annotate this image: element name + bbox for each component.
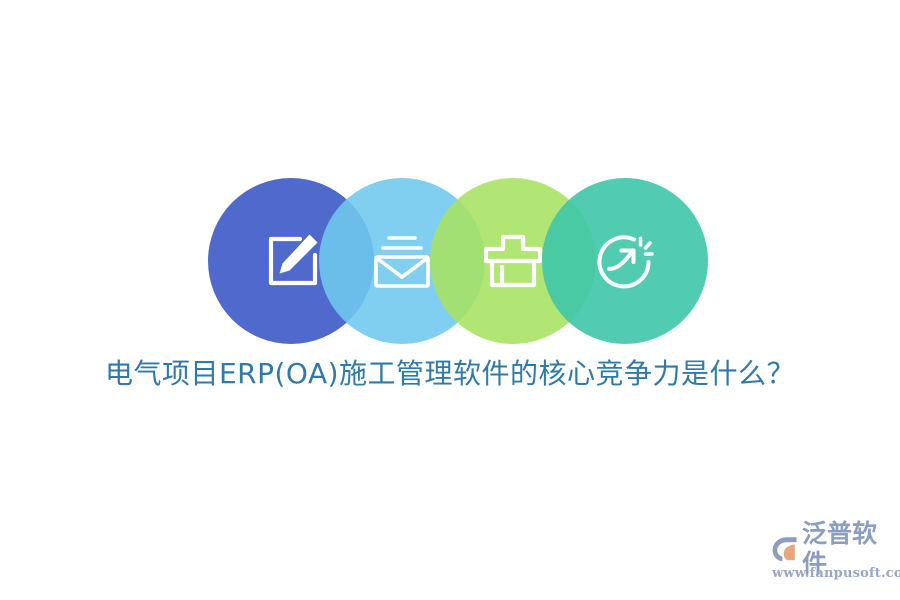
brand-row: 泛普软件 bbox=[770, 533, 890, 565]
brand-url: www.fanpusoft.com bbox=[770, 566, 890, 582]
edit-pencil-icon bbox=[260, 230, 322, 292]
brand-watermark: 泛普软件 www.fanpusoft.com bbox=[770, 533, 890, 585]
icon-circle-cluster bbox=[208, 178, 708, 344]
fanpu-swoosh-logo-icon bbox=[770, 534, 800, 564]
poster-canvas: 电气项目ERP(OA)施工管理软件的核心竞争力是什么？ 泛普软件 www.fan… bbox=[0, 0, 900, 600]
store-shop-icon bbox=[481, 231, 545, 291]
growth-arrow-icon bbox=[593, 230, 657, 292]
page-title: 电气项目ERP(OA)施工管理软件的核心竞争力是什么？ bbox=[0, 352, 900, 396]
circle-growth bbox=[542, 178, 708, 344]
envelope-mail-icon bbox=[369, 230, 435, 292]
